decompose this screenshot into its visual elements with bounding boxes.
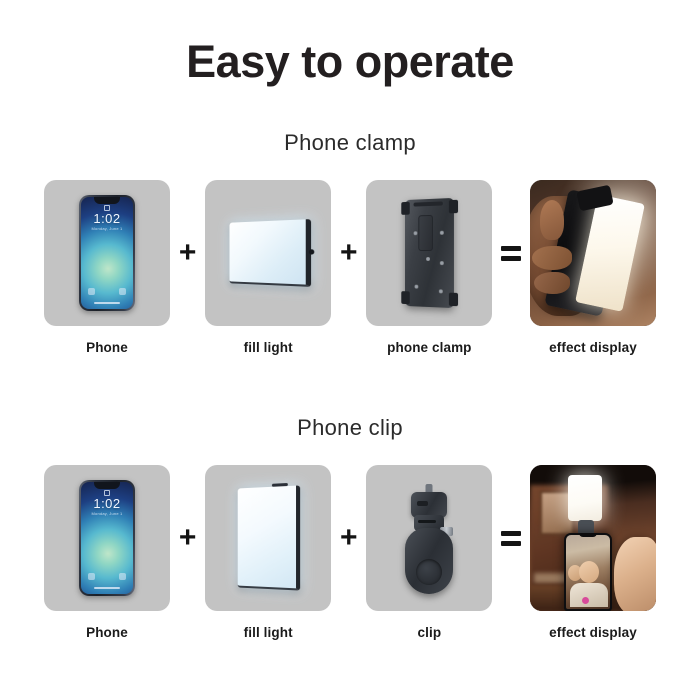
phone-screen: 1:02 Monday, June 1 bbox=[81, 197, 133, 309]
equals-operator-1 bbox=[492, 180, 530, 326]
phone-screen: 1:02 Monday, June 1 bbox=[81, 482, 133, 594]
screw-icon bbox=[415, 285, 419, 289]
phone-shape bbox=[564, 533, 612, 611]
clamp-top-rail bbox=[414, 201, 443, 206]
item-phone-clamp-fill-light[interactable]: fill light bbox=[205, 180, 331, 355]
phone-date: Monday, June 1 bbox=[81, 511, 133, 516]
clip-mount-illustration bbox=[402, 482, 456, 594]
finger-shape bbox=[532, 246, 572, 270]
item-phone-clip-fill-light[interactable]: fill light bbox=[205, 465, 331, 640]
section-heading-phone-clip: Phone clip bbox=[0, 415, 700, 441]
product-infographic: Easy to operate Phone clamp 1:02 Monday,… bbox=[0, 0, 700, 700]
clamp-bracket-illustration bbox=[405, 198, 454, 308]
home-indicator bbox=[94, 587, 120, 589]
phone-screen-selfie bbox=[566, 535, 610, 609]
lit-light-panel bbox=[568, 475, 602, 521]
item-label: fill light bbox=[244, 340, 293, 355]
clamp-ear-icon bbox=[449, 293, 458, 307]
clamp-ear-icon bbox=[402, 291, 410, 304]
item-phone-clamp-effect[interactable]: effect display bbox=[530, 180, 656, 355]
tile-clip bbox=[366, 465, 492, 611]
item-label: clip bbox=[418, 625, 442, 640]
camera-icon bbox=[119, 573, 126, 580]
app-badge-icon bbox=[582, 597, 589, 604]
phone-date: Monday, June 1 bbox=[81, 226, 133, 231]
tile-effect-display bbox=[530, 180, 656, 326]
phone-time: 1:02 bbox=[81, 496, 133, 511]
phone-time: 1:02 bbox=[81, 211, 133, 226]
screw-icon bbox=[439, 289, 443, 293]
screw-icon bbox=[414, 231, 418, 235]
equals-operator-2 bbox=[492, 465, 530, 611]
item-label: phone clamp bbox=[387, 340, 471, 355]
equals-bar bbox=[501, 256, 521, 261]
hand-shape bbox=[614, 537, 656, 611]
clamp-ear-icon bbox=[449, 200, 458, 214]
section-phone-clamp: Phone clamp 1:02 Monday, June 1 bbox=[0, 130, 700, 355]
equation-row-phone-clamp: 1:02 Monday, June 1 Phone + fill l bbox=[0, 180, 700, 355]
phone-illustration: 1:02 Monday, June 1 bbox=[79, 195, 135, 311]
equals-bar bbox=[501, 541, 521, 546]
section-phone-clip: Phone clip 1:02 Monday, June 1 bbox=[0, 415, 700, 640]
item-phone-clamp-bracket[interactable]: phone clamp bbox=[366, 180, 492, 355]
thumb-shape bbox=[540, 200, 564, 240]
plus-operator-4: + bbox=[331, 465, 366, 611]
screw-icon bbox=[440, 261, 444, 265]
tile-fill-light bbox=[205, 180, 331, 326]
equals-bar bbox=[501, 246, 521, 251]
plus-operator-2: + bbox=[331, 180, 366, 326]
clamp-ear-icon bbox=[402, 202, 410, 215]
phone-notch-icon bbox=[94, 482, 120, 489]
tile-phone: 1:02 Monday, June 1 bbox=[44, 465, 170, 611]
item-phone-clip-phone[interactable]: 1:02 Monday, June 1 Phone bbox=[44, 465, 170, 640]
screw-icon bbox=[426, 257, 430, 261]
tile-phone: 1:02 Monday, June 1 bbox=[44, 180, 170, 326]
section-heading-phone-clamp: Phone clamp bbox=[0, 130, 700, 156]
clamp-slot bbox=[419, 215, 434, 251]
item-phone-clamp-phone[interactable]: 1:02 Monday, June 1 Phone bbox=[44, 180, 170, 355]
page-title: Easy to operate bbox=[0, 36, 700, 88]
photo-hand-holding-light bbox=[530, 180, 656, 326]
flashlight-icon bbox=[88, 573, 95, 580]
finger-shape bbox=[534, 272, 570, 294]
item-label: fill light bbox=[244, 625, 293, 640]
person-face-shape bbox=[579, 561, 599, 583]
item-label: Phone bbox=[86, 625, 128, 640]
clip-hole bbox=[416, 559, 442, 585]
tile-effect-display bbox=[530, 465, 656, 611]
screw-icon bbox=[440, 231, 444, 235]
tile-phone-clamp bbox=[366, 180, 492, 326]
phone-notch-icon bbox=[94, 197, 120, 204]
item-phone-clip-mount[interactable]: clip bbox=[366, 465, 492, 640]
fill-light-panel-landscape bbox=[230, 219, 312, 287]
camera-icon bbox=[119, 288, 126, 295]
fill-light-panel-portrait bbox=[238, 485, 300, 590]
tile-fill-light bbox=[205, 465, 331, 611]
home-indicator bbox=[94, 302, 120, 304]
flashlight-icon bbox=[88, 288, 95, 295]
photo-selfie-with-clip-light bbox=[530, 465, 656, 611]
phone-illustration: 1:02 Monday, June 1 bbox=[79, 480, 135, 596]
item-label: effect display bbox=[549, 625, 637, 640]
clip-body bbox=[405, 528, 453, 594]
plus-operator-1: + bbox=[170, 180, 205, 326]
item-label: Phone bbox=[86, 340, 128, 355]
equals-bar bbox=[501, 531, 521, 536]
person-body-shape bbox=[570, 583, 608, 607]
plus-operator-3: + bbox=[170, 465, 205, 611]
item-label: effect display bbox=[549, 340, 637, 355]
equation-row-phone-clip: 1:02 Monday, June 1 Phone + fill l bbox=[0, 465, 700, 640]
item-phone-clip-effect[interactable]: effect display bbox=[530, 465, 656, 640]
phone-notch-icon bbox=[579, 533, 597, 537]
